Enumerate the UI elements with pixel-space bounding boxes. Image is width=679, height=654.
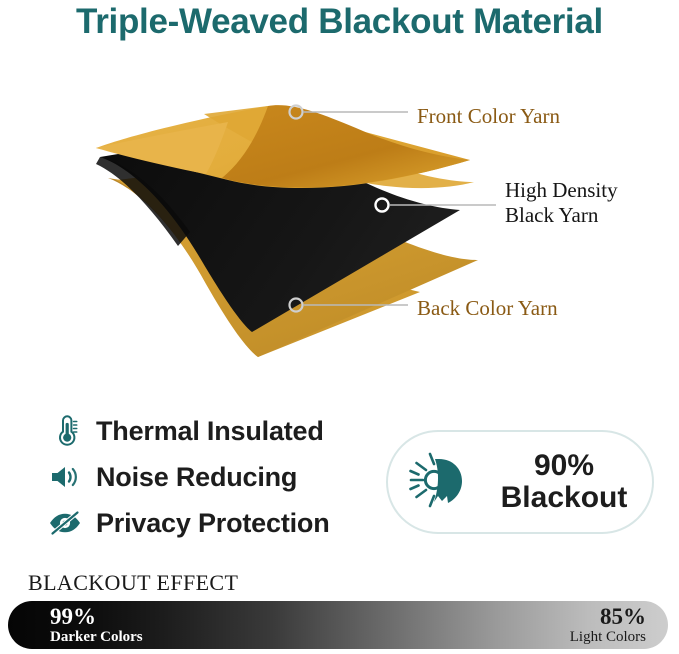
speaker-icon xyxy=(44,458,86,496)
sun-blackout-icon xyxy=(394,447,486,517)
callout-label-black-yarn-line1: High Density xyxy=(505,178,618,202)
blackout-effect-light-colors: 85% Light Colors xyxy=(570,605,646,646)
blackout-effect-title: BLACKOUT EFFECT xyxy=(28,570,238,596)
callout-label-front-color-yarn: Front Color Yarn xyxy=(417,104,560,129)
feature-label-noise-reducing: Noise Reducing xyxy=(96,462,297,493)
darker-colors-percent: 99% xyxy=(50,605,143,629)
eye-slash-icon xyxy=(44,504,86,542)
feature-list: Thermal Insulated Noise Reducing Privacy… xyxy=(44,408,364,546)
callout-label-black-yarn-line2: Black Yarn xyxy=(505,203,598,227)
page-title: Triple-Weaved Blackout Material xyxy=(0,2,679,42)
badge-text: 90% Blackout xyxy=(486,450,652,514)
callout-label-back-color-yarn: Back Color Yarn xyxy=(417,296,558,321)
thermometer-icon xyxy=(44,412,86,450)
feature-item-noise-reducing: Noise Reducing xyxy=(44,454,364,500)
callout-label-black-yarn: High Density Black Yarn xyxy=(505,178,670,228)
blackout-effect-darker-colors: 99% Darker Colors xyxy=(50,605,143,646)
badge-label: Blackout xyxy=(501,481,628,514)
blackout-badge: 90% Blackout xyxy=(386,430,654,534)
darker-colors-caption: Darker Colors xyxy=(50,629,143,646)
feature-label-thermal-insulated: Thermal Insulated xyxy=(96,416,324,447)
blackout-effect-gradient-bar: 99% Darker Colors 85% Light Colors xyxy=(8,601,668,649)
feature-item-thermal-insulated: Thermal Insulated xyxy=(44,408,364,454)
feature-label-privacy-protection: Privacy Protection xyxy=(96,508,330,539)
badge-percent: 90% xyxy=(534,449,594,482)
feature-item-privacy-protection: Privacy Protection xyxy=(44,500,364,546)
light-colors-percent: 85% xyxy=(570,605,646,629)
light-colors-caption: Light Colors xyxy=(570,629,646,646)
